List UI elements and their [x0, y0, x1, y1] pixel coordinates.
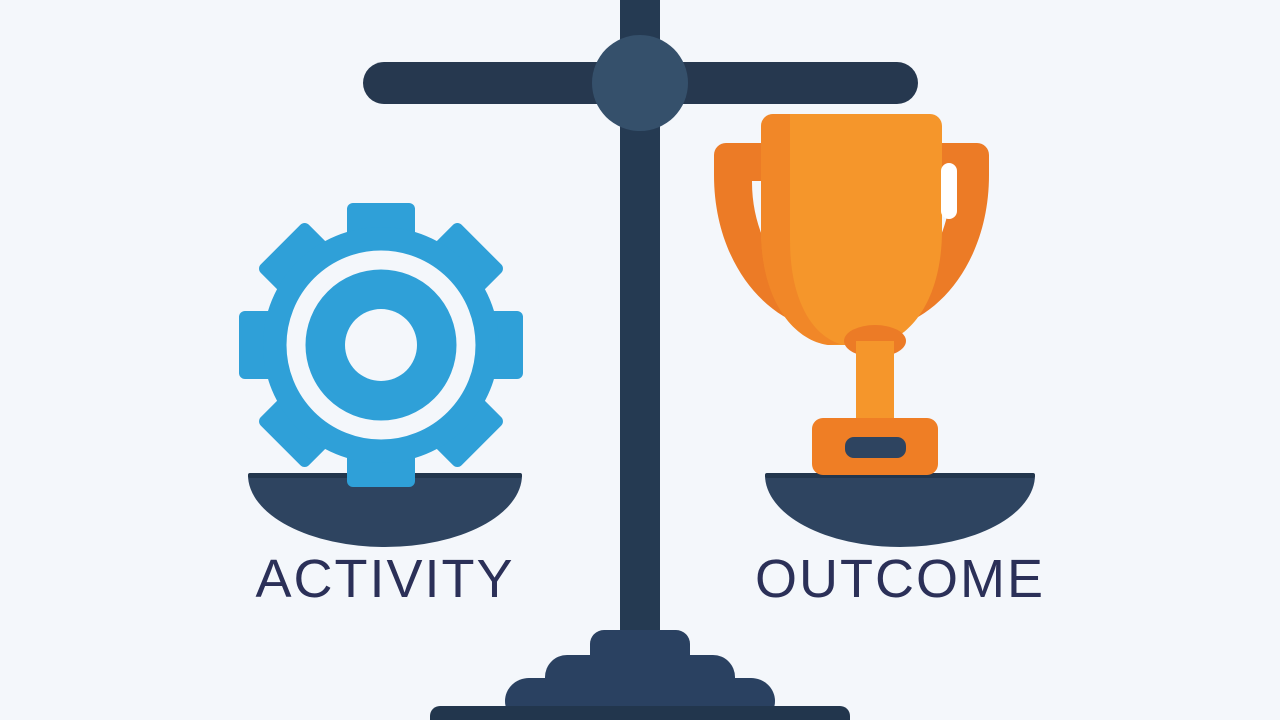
trophy-base-plaque: [845, 437, 906, 458]
left-pan-label: ACTIVITY: [200, 548, 570, 610]
balance-scale-illustration: [0, 0, 1280, 720]
right-pan-label: OUTCOME: [700, 548, 1100, 610]
trophy-stem: [856, 341, 894, 421]
gear-center-hole: [345, 309, 417, 381]
scale-base: [430, 630, 850, 720]
trophy-highlight: [941, 163, 957, 219]
gear-icon: [239, 203, 523, 487]
trophy-icon: [714, 114, 989, 475]
right-pan: [765, 473, 1035, 547]
illustration-canvas: ACTIVITY OUTCOME: [0, 0, 1280, 720]
scale-pivot-hub: [592, 35, 688, 131]
